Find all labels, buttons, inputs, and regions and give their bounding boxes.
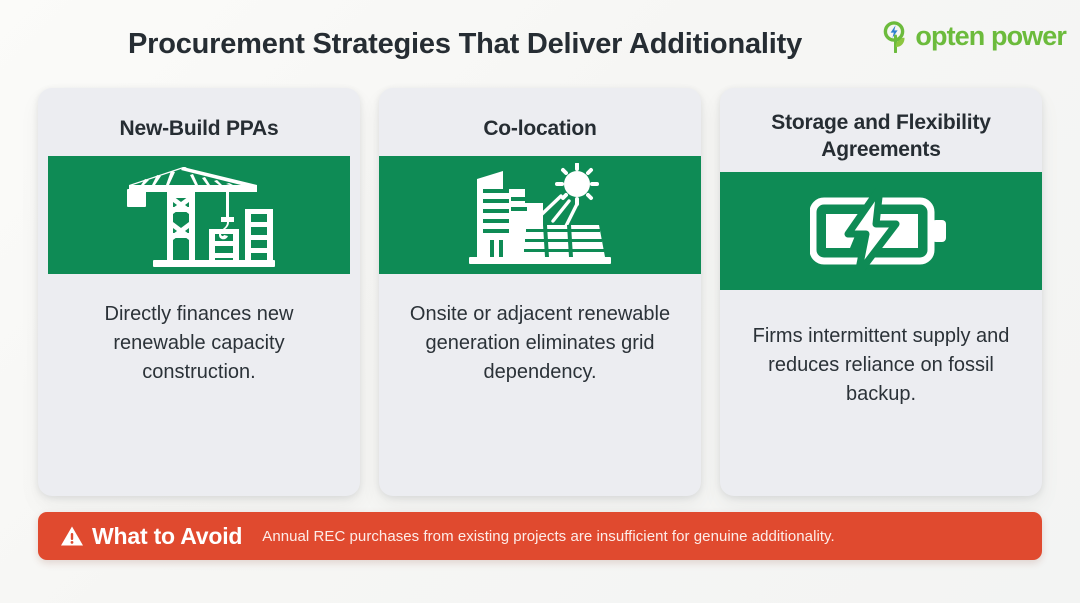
card-description: Onsite or adjacent renewable generation …	[379, 274, 701, 496]
card-description: Firms intermittent supply and reduces re…	[720, 290, 1042, 496]
card-icon-band	[379, 156, 701, 274]
building-solar-panel-sun-icon	[465, 163, 615, 267]
card-title: Co-location	[379, 88, 701, 144]
infographic-canvas: Procurement Strategies That Deliver Addi…	[0, 0, 1080, 603]
card-description: Directly finances new renewable capacity…	[38, 274, 360, 496]
card-icon-band	[48, 156, 350, 274]
avoid-label: What to Avoid	[92, 523, 242, 550]
what-to-avoid-banner: What to Avoid Annual REC purchases from …	[38, 512, 1042, 560]
warning-triangle-icon	[60, 525, 84, 547]
brand-logo: opten power	[882, 16, 1066, 56]
strategy-card-new-build-ppas[interactable]: New-Build PPAs	[38, 88, 360, 496]
leaf-bolt-logo-icon	[882, 19, 912, 53]
strategy-cards: New-Build PPAs	[38, 88, 1042, 496]
card-icon-band	[720, 172, 1042, 290]
card-title: New-Build PPAs	[38, 88, 360, 144]
construction-crane-icon	[123, 163, 275, 267]
brand-logo-text: opten power	[915, 23, 1066, 50]
battery-lightning-bolt-icon	[810, 188, 952, 274]
strategy-card-co-location[interactable]: Co-location	[379, 88, 701, 496]
page-title: Procurement Strategies That Deliver Addi…	[40, 28, 890, 61]
card-title: Storage and Flexibility Agreements	[720, 88, 1042, 164]
avoid-description: Annual REC purchases from existing proje…	[262, 528, 1020, 545]
strategy-card-storage-flexibility[interactable]: Storage and Flexibility Agreements F	[720, 88, 1042, 496]
header: Procurement Strategies That Deliver Addi…	[0, 0, 1080, 86]
